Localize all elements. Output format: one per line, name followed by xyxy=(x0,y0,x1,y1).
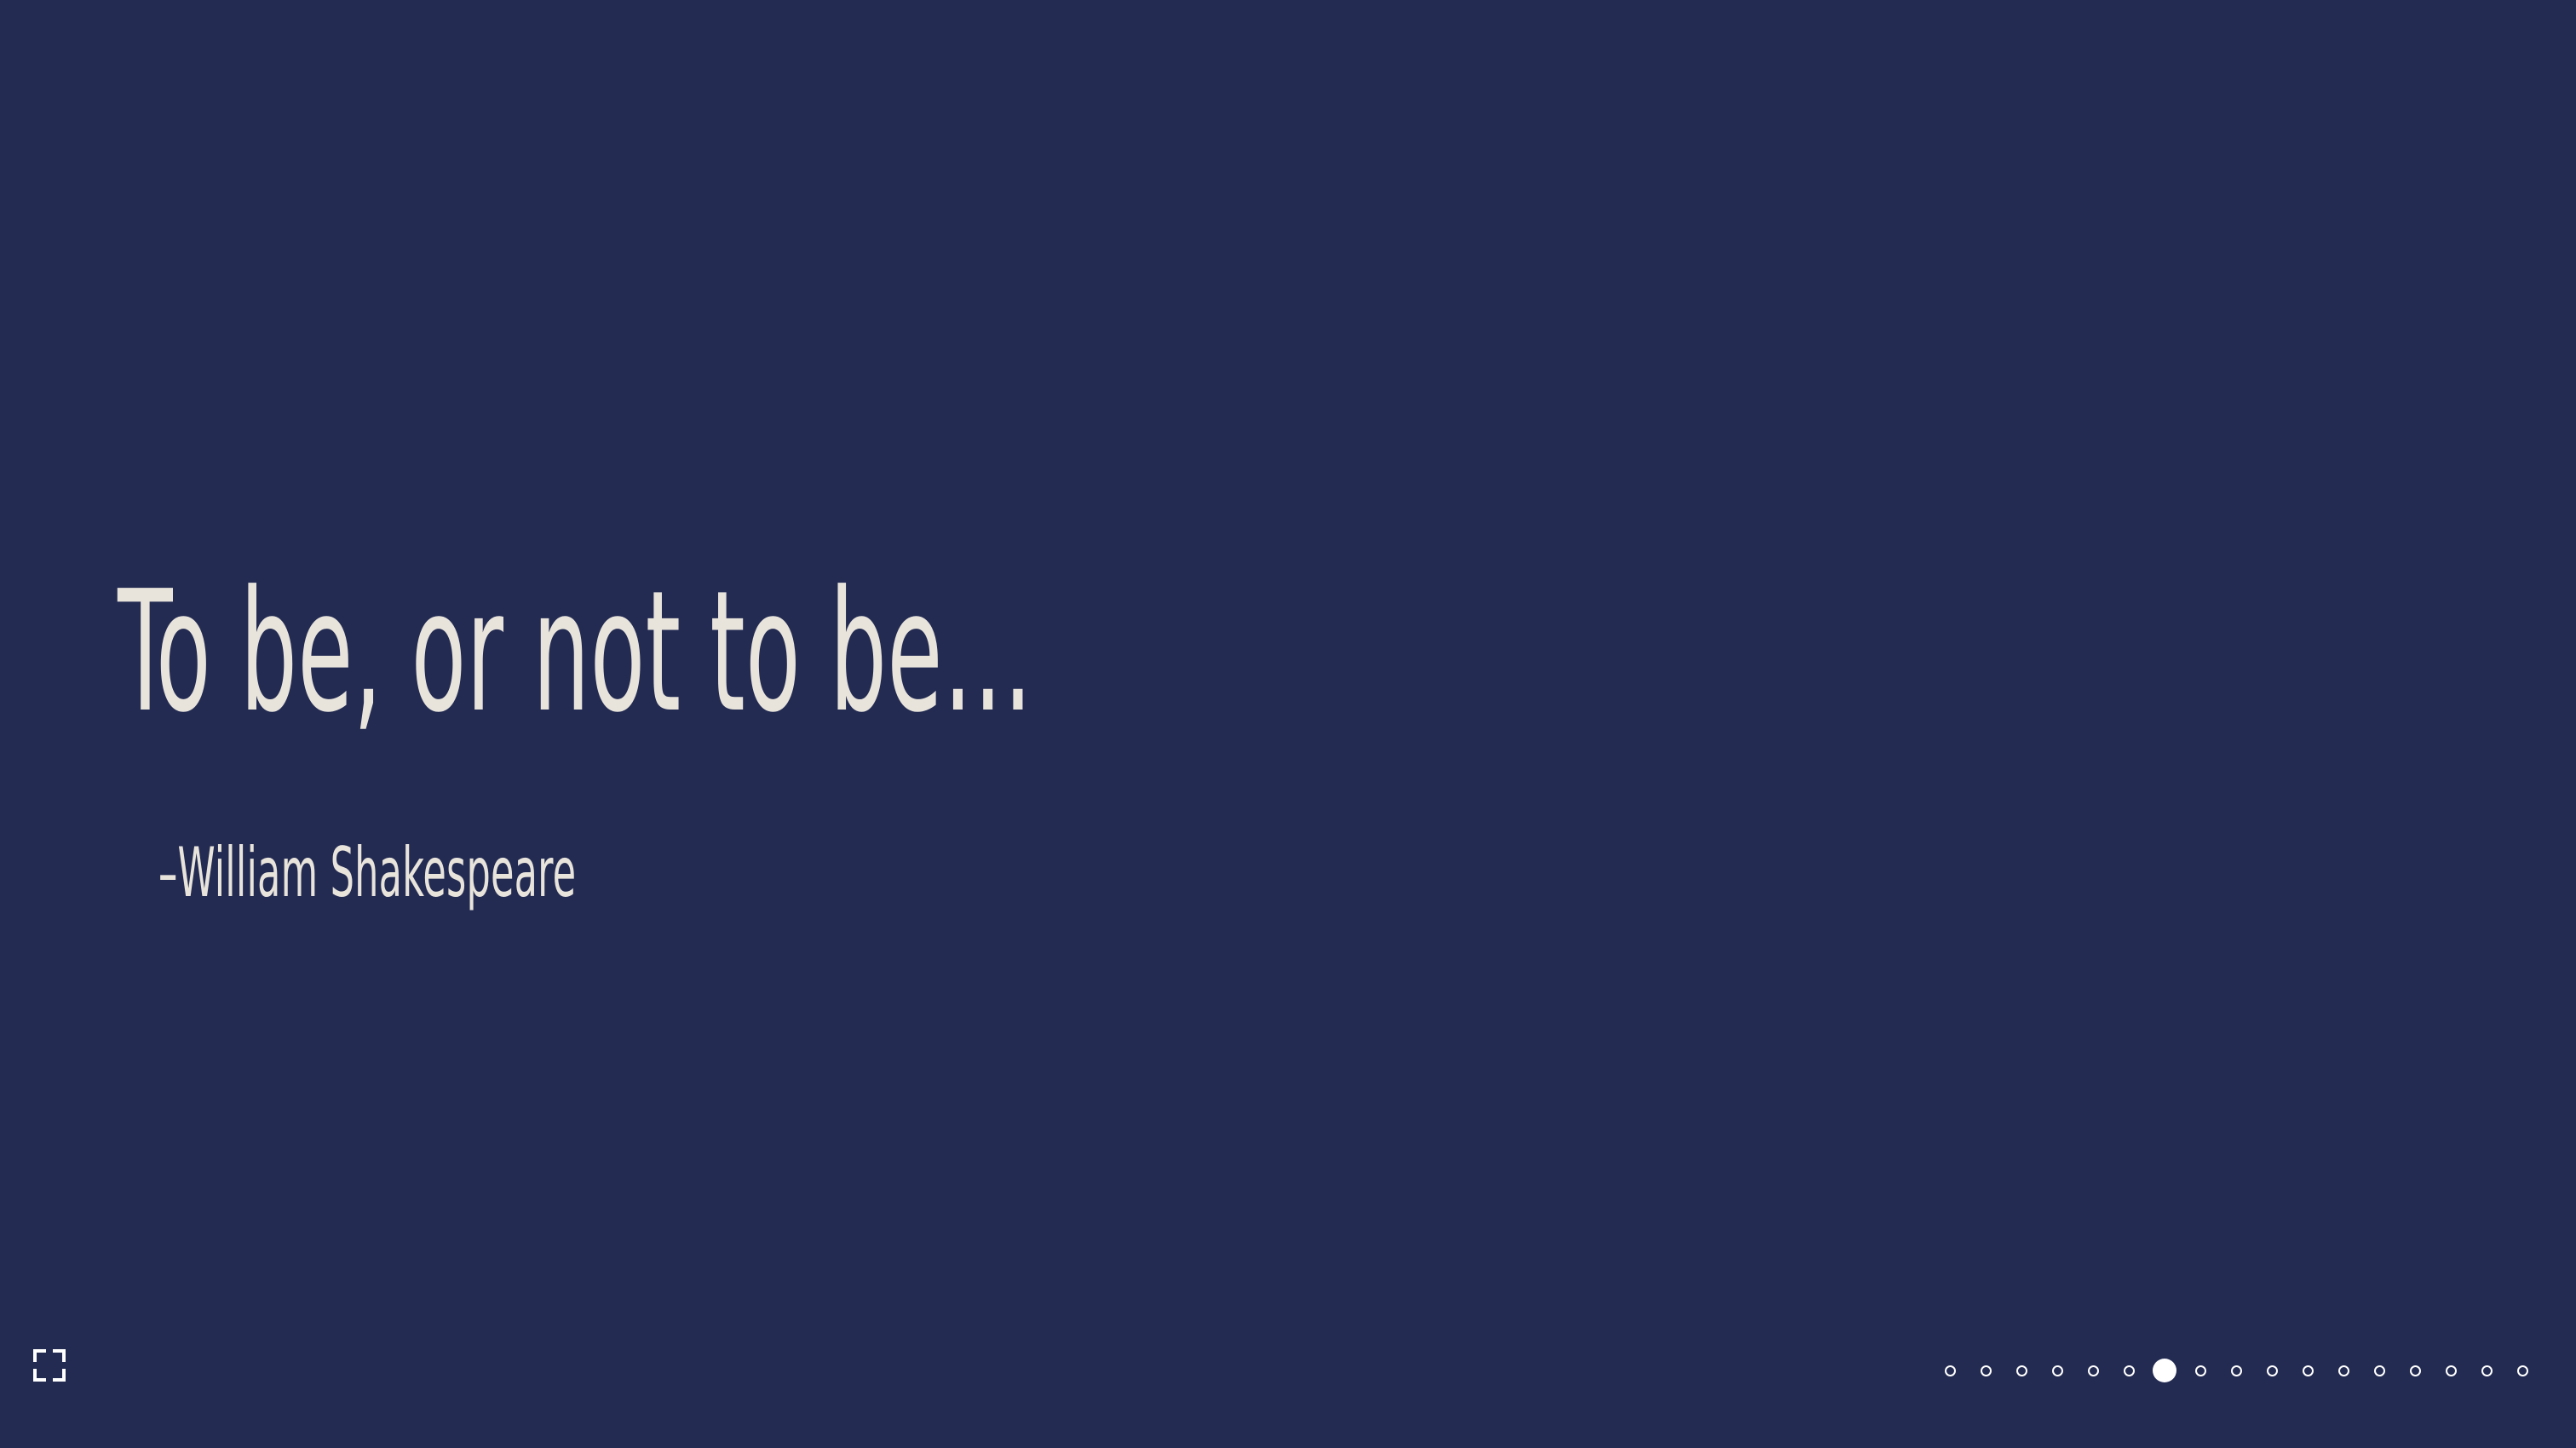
pagination-dot-bullet xyxy=(2195,1365,2206,1376)
pagination-dot-active[interactable] xyxy=(2147,1356,2182,1385)
pagination-dot-bullet xyxy=(2124,1365,2135,1376)
fullscreen-button[interactable] xyxy=(33,1349,66,1382)
pagination-dot[interactable] xyxy=(2039,1356,2075,1385)
pagination-dot-bullet xyxy=(2267,1365,2278,1376)
pagination-dot[interactable] xyxy=(2111,1356,2147,1385)
pagination-dot[interactable] xyxy=(1932,1356,1968,1385)
pagination-dot-bullet xyxy=(2338,1365,2349,1376)
pagination-dot-bullet xyxy=(2303,1365,2314,1376)
pagination-dot[interactable] xyxy=(2397,1356,2433,1385)
pagination-dot-bullet xyxy=(2446,1365,2457,1376)
pagination-dot[interactable] xyxy=(2469,1356,2504,1385)
presentation-slide: To be, or not to be… –William Shakespear… xyxy=(0,0,2576,1448)
pagination-dot[interactable] xyxy=(2075,1356,2111,1385)
pagination-dot-bullet xyxy=(1981,1365,1992,1376)
pagination-dot-bullet xyxy=(2231,1365,2242,1376)
pagination-dot-bullet xyxy=(2016,1365,2027,1376)
pagination-dot-bullet xyxy=(2374,1365,2385,1376)
fullscreen-icon xyxy=(33,1349,66,1382)
pagination-dot[interactable] xyxy=(2504,1356,2540,1385)
pagination-dot[interactable] xyxy=(2361,1356,2397,1385)
pagination-dot[interactable] xyxy=(2433,1356,2469,1385)
pagination-dot-bullet xyxy=(2153,1359,2176,1382)
slide-pagination[interactable] xyxy=(1932,1356,2540,1385)
pagination-dot-bullet xyxy=(1945,1365,1956,1376)
pagination-dot[interactable] xyxy=(2326,1356,2361,1385)
pagination-dot-bullet xyxy=(2052,1365,2063,1376)
pagination-dot[interactable] xyxy=(2218,1356,2254,1385)
pagination-dot-bullet xyxy=(2481,1365,2493,1376)
pagination-dot[interactable] xyxy=(2004,1356,2039,1385)
pagination-dot[interactable] xyxy=(1968,1356,2004,1385)
pagination-dot[interactable] xyxy=(2290,1356,2326,1385)
pagination-dot[interactable] xyxy=(2254,1356,2290,1385)
quote-text: To be, or not to be… xyxy=(118,569,1033,736)
slide-content: To be, or not to be… –William Shakespear… xyxy=(0,0,2576,1448)
pagination-dot-bullet xyxy=(2410,1365,2421,1376)
pagination-dot-bullet xyxy=(2517,1365,2528,1376)
pagination-dot[interactable] xyxy=(2182,1356,2218,1385)
pagination-dot-bullet xyxy=(2088,1365,2099,1376)
quote-attribution: –William Shakespeare xyxy=(158,839,576,907)
